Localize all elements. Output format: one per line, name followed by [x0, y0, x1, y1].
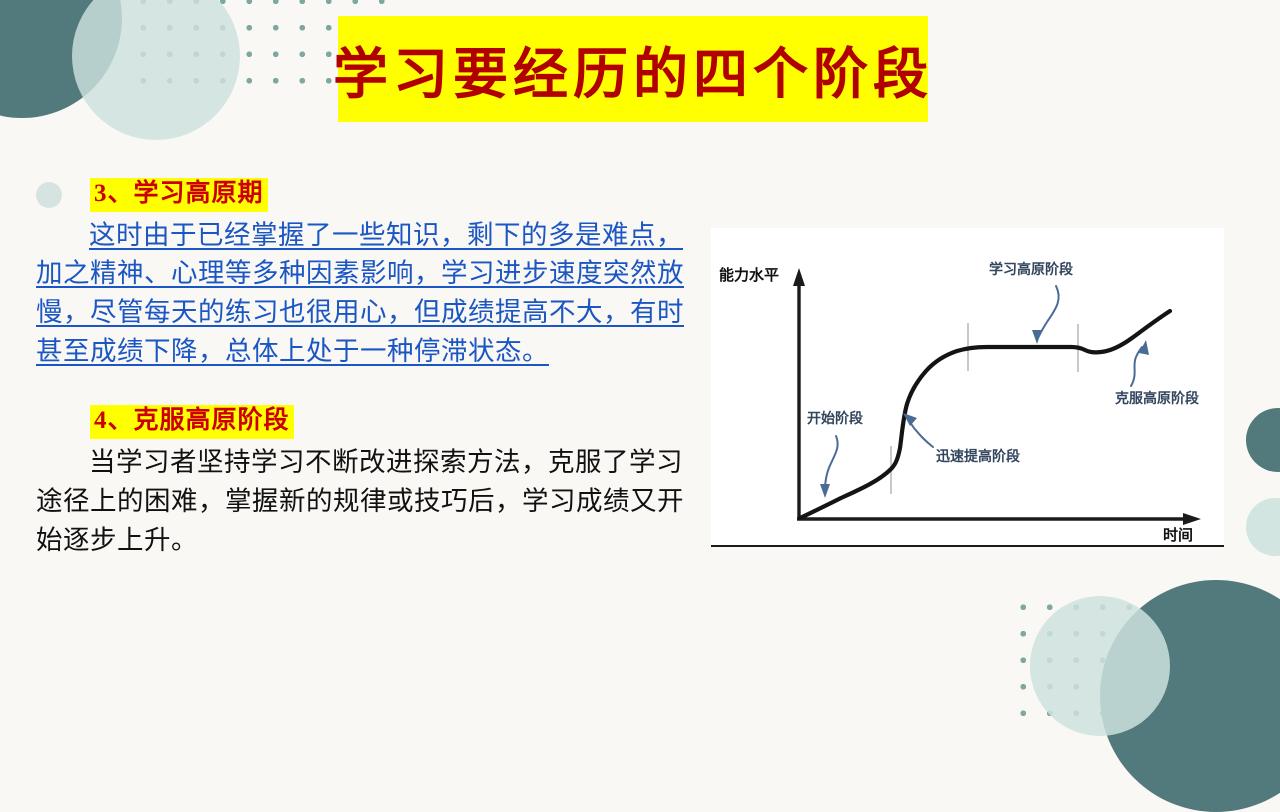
slide-title-banner: 学习要经历的四个阶段 [338, 16, 928, 122]
dot-grid-bottom-right [1010, 594, 1262, 730]
section-4-heading-row: 4、克服高原阶段 [36, 405, 700, 439]
decorative-circle-light-bottom-right [1030, 596, 1170, 736]
annotation-label-stage-2: 迅速提高阶段 [936, 448, 1020, 464]
section-3-body: 这时由于已经掌握了一些知识，剩下的多是难点，加之精神、心理等多种因素影响，学习进… [36, 216, 700, 372]
content-column: 3、学习高原期 这时由于已经掌握了一些知识，剩下的多是难点，加之精神、心理等多种… [36, 178, 700, 560]
annotation-stage-2: 迅速提高阶段 [903, 413, 1020, 464]
annotation-label-stage-4: 克服高原阶段 [1115, 390, 1199, 406]
bullet-dot-icon [36, 182, 62, 208]
section-3-heading: 3、学习高原期 [90, 178, 268, 212]
slide-title: 学习要经历的四个阶段 [333, 29, 933, 109]
decorative-circle-light-top-left [72, 0, 240, 140]
decorative-circle-dark-bottom-right [1100, 580, 1280, 812]
section-4-heading: 4、克服高原阶段 [90, 405, 294, 439]
chart-bottom-rule [711, 545, 1224, 547]
learning-curve-svg: 能力水平 时间 开始阶段 迅速提高阶段 学习高原阶段 克服高原阶段 [711, 228, 1224, 546]
chart-y-axis-label: 能力水平 [719, 266, 779, 284]
annotation-label-stage-1: 开始阶段 [807, 410, 863, 426]
decorative-circle-dark-right-edge [1246, 408, 1280, 472]
decorative-circle-dark-top-left [0, 0, 122, 118]
annotation-stage-3: 学习高原阶段 [989, 261, 1073, 344]
annotation-stage-4: 克服高原阶段 [1115, 340, 1199, 406]
chart-x-axis-label: 时间 [1163, 526, 1193, 544]
annotation-stage-1: 开始阶段 [807, 410, 863, 498]
learning-curve-chart: 能力水平 时间 开始阶段 迅速提高阶段 学习高原阶段 克服高原阶段 [711, 228, 1224, 546]
section-3-heading-row: 3、学习高原期 [36, 178, 700, 212]
annotation-label-stage-3: 学习高原阶段 [989, 261, 1073, 277]
section-4-body: 当学习者坚持学习不断改进探索方法，克服了学习途径上的困难，掌握新的规律或技巧后，… [36, 443, 700, 560]
decorative-circle-light-right-edge [1246, 498, 1280, 556]
